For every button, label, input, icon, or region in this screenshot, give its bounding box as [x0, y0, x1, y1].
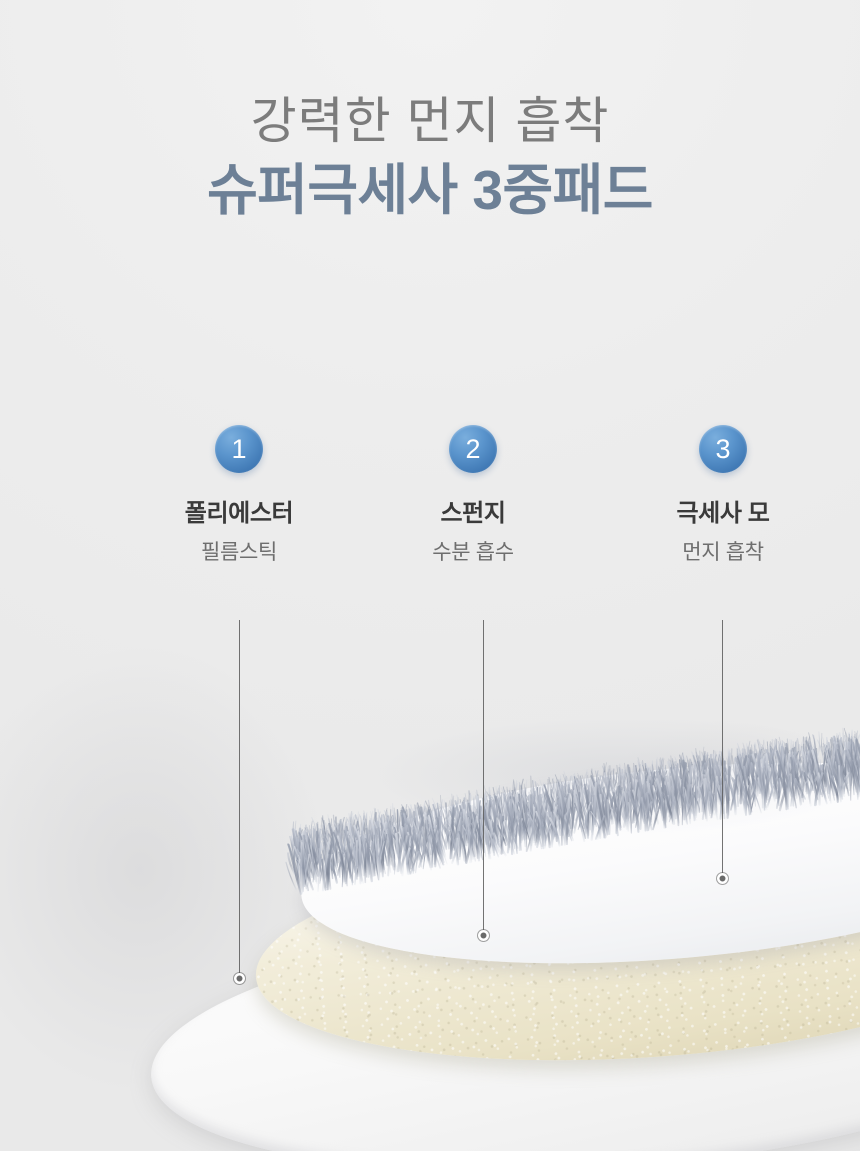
callout-subtitle-2: 수분 흡수 — [363, 536, 583, 566]
product-infographic-page: 강력한 먼지 흡착 슈퍼극세사 3중패드 — [0, 0, 860, 1151]
callout-title-1: 폴리에스터 — [129, 493, 349, 528]
callout-title-3: 극세사 모 — [613, 493, 833, 528]
callout-item-3: 3 극세사 모 먼지 흡착 — [613, 425, 833, 566]
callout-item-2: 2 스펀지 수분 흡수 — [363, 425, 583, 566]
product-layer-stack — [0, 690, 860, 1110]
callout-item-1: 1 폴리에스터 필름스틱 — [129, 425, 349, 566]
callout-badge-3: 3 — [699, 425, 747, 473]
callout-badge-1: 1 — [215, 425, 263, 473]
headline-primary: 강력한 먼지 흡착 — [0, 92, 860, 151]
microfiber-bristles — [284, 685, 860, 916]
heading-block: 강력한 먼지 흡착 슈퍼극세사 3중패드 — [0, 92, 860, 223]
callout-badge-2: 2 — [449, 425, 497, 473]
callout-group: 1 폴리에스터 필름스틱 2 스펀지 수분 흡수 3 극세사 모 먼지 흡착 — [0, 425, 860, 605]
callout-subtitle-1: 필름스틱 — [129, 536, 349, 566]
callout-subtitle-3: 먼지 흡착 — [613, 536, 833, 566]
callout-title-2: 스펀지 — [363, 493, 583, 528]
headline-secondary: 슈퍼극세사 3중패드 — [0, 157, 860, 223]
